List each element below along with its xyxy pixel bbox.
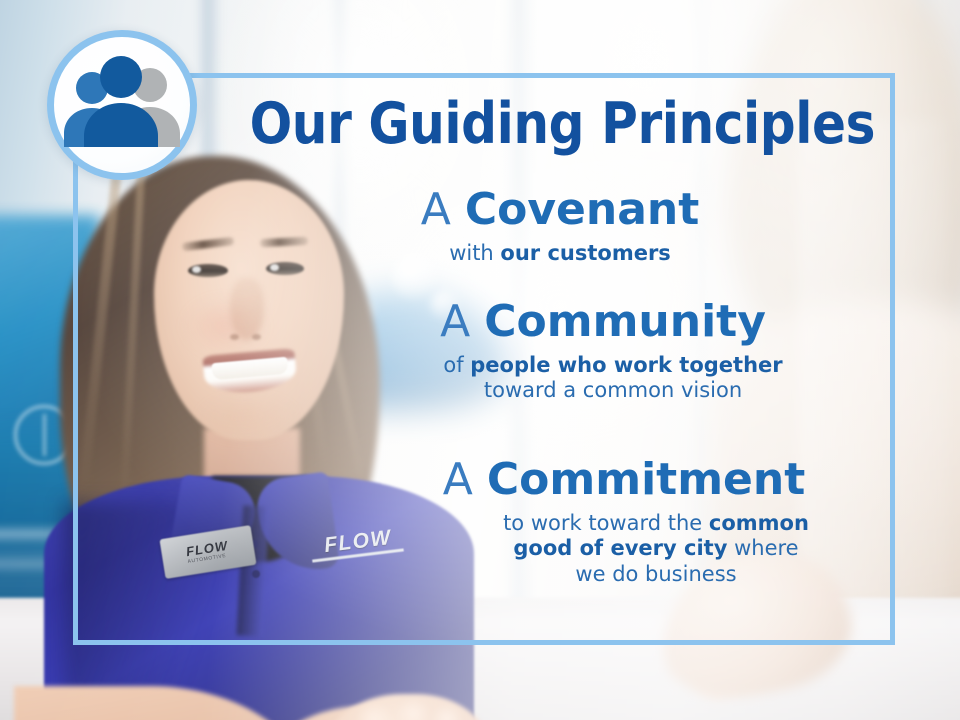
- subtitle-line: to work toward the common: [352, 511, 960, 537]
- principle-keyword: Commitment: [487, 454, 805, 505]
- group-of-people-icon: [62, 55, 184, 159]
- subtitle-line: good of every city where: [352, 536, 960, 562]
- principle-commitment: A Commitment to work toward the common g…: [0, 458, 960, 588]
- principle-covenant: A Covenant with our customers: [0, 188, 960, 266]
- principle-keyword: Covenant: [465, 184, 699, 235]
- page-title: Our Guiding Principles: [250, 96, 831, 153]
- subtitle-line: with our customers: [160, 241, 960, 267]
- subtitle-line: we do business: [352, 562, 960, 588]
- subtitle-line: toward a common vision: [266, 378, 960, 404]
- principle-title: A Commitment: [0, 458, 960, 503]
- principle-article: A: [421, 184, 451, 235]
- principle-community: A Community of people who work together …: [0, 300, 960, 404]
- principle-subtitle: of people who work together toward a com…: [0, 353, 960, 404]
- principle-title: A Community: [0, 300, 960, 345]
- principle-title: A Covenant: [0, 188, 960, 233]
- principle-subtitle: with our customers: [0, 241, 960, 267]
- principle-article: A: [443, 454, 473, 505]
- principle-subtitle: to work toward the common good of every …: [0, 511, 960, 588]
- principle-keyword: Community: [484, 296, 766, 347]
- poster-canvas: FLOW AUTOMOTIVE FLOW: [0, 0, 960, 720]
- principle-article: A: [440, 296, 470, 347]
- subtitle-line: of people who work together: [266, 353, 960, 379]
